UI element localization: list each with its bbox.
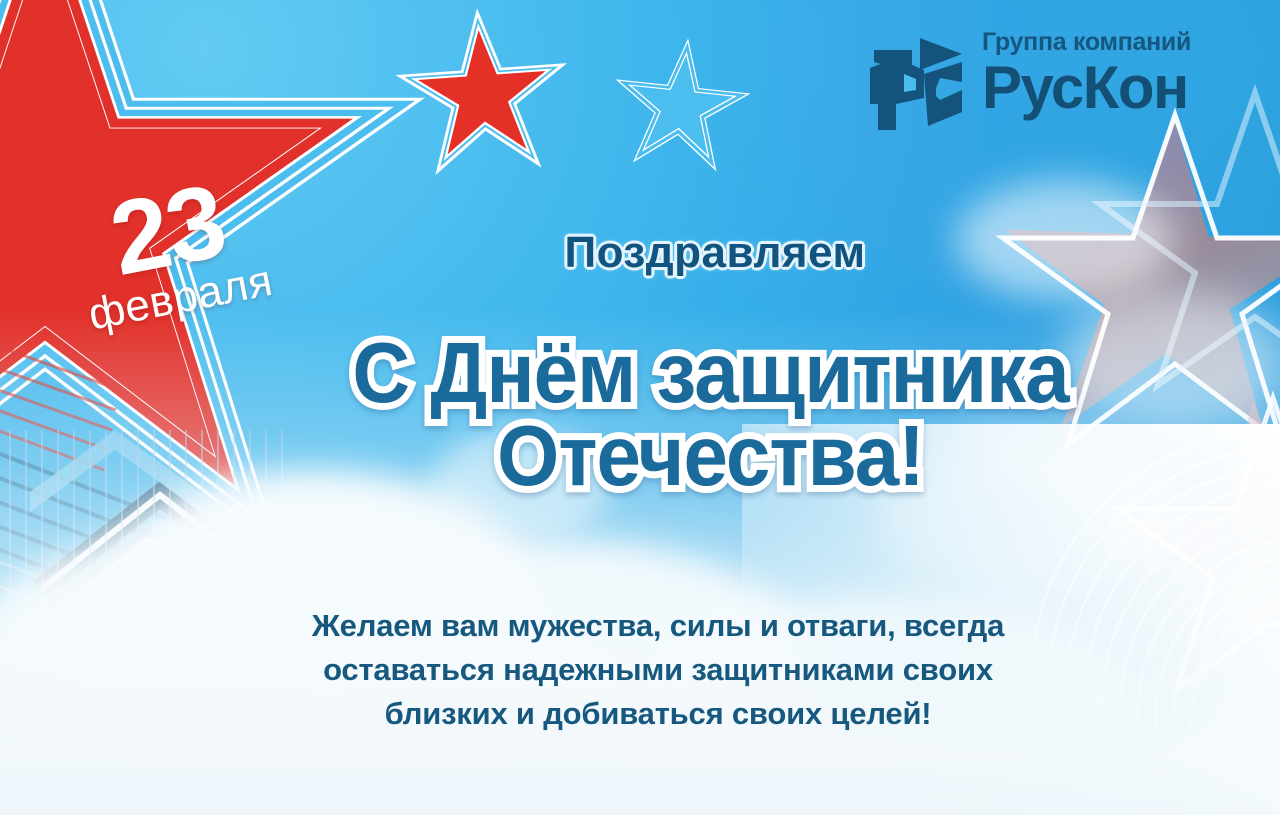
wish-line-2: оставаться надежными защитниками своих — [54, 648, 1262, 692]
headline-line-1: С Днём защитника — [179, 332, 1241, 415]
greeting-card: 23 февраля Поздравляем С Днём защитника … — [0, 0, 1280, 815]
ruskon-monogram-icon — [866, 34, 970, 134]
logo-text: Группа компаний РусКон — [982, 30, 1232, 118]
logo-name: РусКон — [982, 59, 1232, 118]
red-star-small-body — [415, 26, 552, 163]
logo-tagline: Группа компаний — [982, 30, 1232, 55]
greeting-headline: С Днём защитника Отечества! — [38, 332, 1241, 499]
wish-line-1: Желаем вам мужества, силы и отваги, всег… — [54, 604, 1262, 648]
greeting-kicker: Поздравляем — [0, 228, 1280, 278]
outline-star-hole-1 — [625, 50, 737, 162]
wish-line-3: близких и добиваться своих целей! — [54, 692, 1262, 736]
headline-line-2: Отечества! — [179, 415, 1241, 498]
company-logo[interactable]: Группа компаний РусКон — [866, 30, 1226, 138]
greeting-wish: Желаем вам мужества, силы и отваги, всег… — [0, 604, 1280, 736]
